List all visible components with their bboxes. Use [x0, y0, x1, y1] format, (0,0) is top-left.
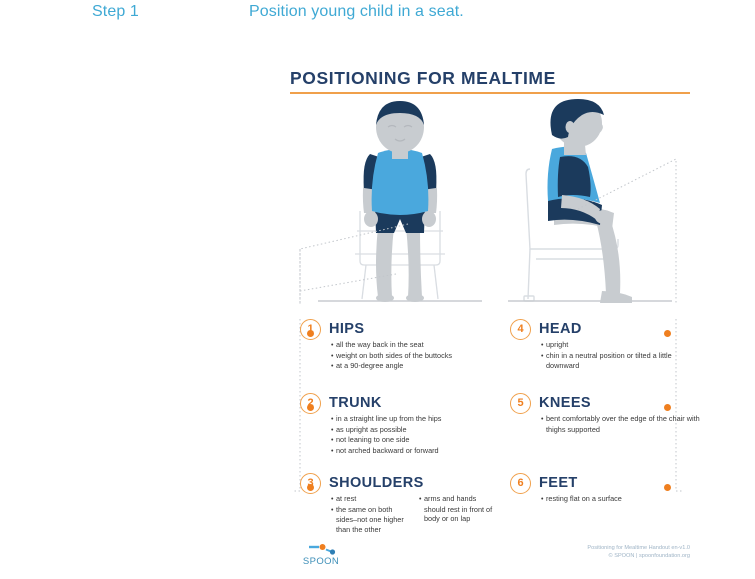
point-title-feet: FEET	[539, 475, 578, 491]
bullet: resting flat on a surface	[546, 494, 701, 505]
handout-footer: SPOON Positioning for Mealtime Handout e…	[278, 533, 702, 572]
point-body-trunk: in a straight line up from the hips as u…	[331, 414, 491, 456]
point-body-shoulders-col2: arms and hands should rest in front of b…	[419, 494, 496, 534]
footer-credit-line-1: Positioning for Mealtime Handout en-v1.0	[587, 545, 690, 553]
point-number-badge-4: 4	[510, 319, 531, 340]
point-title-hips: HIPS	[329, 321, 364, 337]
point-title-trunk: TRUNK	[329, 395, 382, 411]
point-body-shoulders: at rest the same on both sides–not one h…	[331, 494, 497, 534]
handout-card: POSITIONING FOR MEALTIME	[278, 47, 702, 572]
point-body-hips: all the way back in the seat weight on b…	[331, 340, 491, 372]
bullet: bent comfortably over the edge of the ch…	[546, 414, 701, 434]
positioning-points-list: 1 HIPS all the way back in the seat weig…	[278, 319, 702, 519]
spoon-mark-icon	[300, 543, 342, 556]
bullet: not arched backward or forward	[336, 446, 491, 457]
point-number-badge-1: 1	[300, 319, 321, 340]
step-number-label: Step 1	[92, 3, 139, 21]
spoon-logo: SPOON	[300, 543, 342, 569]
bullet: in a straight line up from the hips	[336, 414, 491, 425]
bullet: the same on both sides–not one higher th…	[336, 505, 408, 535]
bullet: at a 90-degree angle	[336, 361, 491, 372]
point-body-shoulders-col1: at rest the same on both sides–not one h…	[331, 494, 408, 534]
bullet: not leaning to one side	[336, 435, 491, 446]
bullet: weight on both sides of the buttocks	[336, 351, 491, 362]
connector-dot-head	[664, 330, 671, 337]
illustration-group	[278, 99, 702, 304]
connector-dot-feet	[664, 484, 671, 491]
point-title-knees: KNEES	[539, 395, 591, 411]
point-number-badge-2: 2	[300, 393, 321, 414]
bullet: as upright as possible	[336, 425, 491, 436]
step-header: Step 1 Position young child in a seat.	[0, 0, 755, 34]
point-body-feet: resting flat on a surface	[541, 494, 701, 505]
spoon-wordmark: SPOON	[300, 556, 342, 567]
bullet: arms and hands should rest in front of b…	[424, 494, 496, 524]
point-body-knees: bent comfortably over the edge of the ch…	[541, 414, 701, 434]
title-divider-rule	[290, 92, 690, 94]
point-number-badge-3: 3	[300, 473, 321, 494]
point-number-badge-6: 6	[510, 473, 531, 494]
bullet: upright	[546, 340, 701, 351]
point-number-badge-5: 5	[510, 393, 531, 414]
bullet: chin in a neutral position or tilted a l…	[546, 351, 701, 371]
point-title-shoulders: SHOULDERS	[329, 475, 424, 491]
point-title-head: HEAD	[539, 321, 582, 337]
handout-title: POSITIONING FOR MEALTIME	[290, 68, 556, 89]
connector-dot-knees	[664, 404, 671, 411]
footer-credit: Positioning for Mealtime Handout en-v1.0…	[587, 545, 690, 560]
bullet: all the way back in the seat	[336, 340, 491, 351]
footer-credit-line-2: © SPOON | spoonfoundation.org	[587, 553, 690, 561]
connector-lines-illustration	[278, 99, 702, 304]
bullet: at rest	[336, 494, 408, 505]
step-instruction-text: Position young child in a seat.	[249, 3, 464, 21]
point-body-head: upright chin in a neutral position or ti…	[541, 340, 701, 371]
